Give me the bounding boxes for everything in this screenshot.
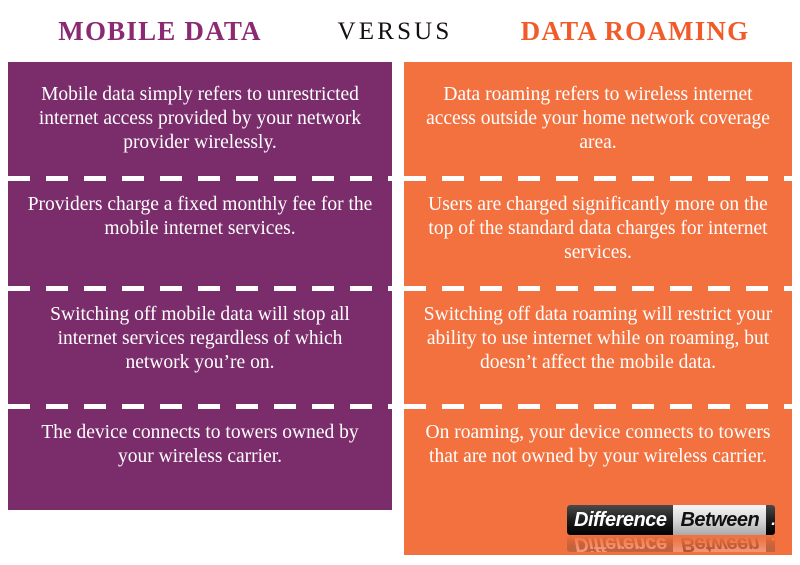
title-underline-left (8, 62, 392, 71)
cell-text: The device connects to towers owned by y… (26, 421, 374, 469)
table-row: Providers charge a fixed monthly fee for… (8, 181, 392, 291)
table-row: Switching off data roaming will restrict… (404, 291, 792, 409)
header: MOBILE DATA VERSUS DATA ROAMING (0, 0, 800, 62)
cell-text: Users are charged significantly more on … (422, 193, 774, 265)
cell-text: Data roaming refers to wireless internet… (422, 83, 774, 155)
table-row: The device connects to towers owned by y… (8, 409, 392, 510)
logo-part-net: .net (766, 535, 775, 552)
logo-part-net: .net (766, 505, 775, 535)
cell-text: Mobile data simply refers to unrestricte… (26, 83, 374, 155)
comparison-infographic: MOBILE DATA VERSUS DATA ROAMING Mobile d… (0, 0, 800, 565)
table-row: Users are charged significantly more on … (404, 181, 792, 291)
logo-part-between: Between (673, 535, 766, 552)
site-logo-reflection: Difference Between .net (567, 535, 775, 552)
table-row: Switching off mobile data will stop all … (8, 291, 392, 409)
logo-part-difference: Difference (567, 535, 673, 552)
title-underline-right (404, 62, 792, 71)
column-mobile-data: Mobile data simply refers to unrestricte… (8, 71, 392, 510)
site-logo: Difference Between .net (567, 505, 775, 535)
column-data-roaming: Data roaming refers to wireless internet… (404, 71, 792, 555)
cell-text: Switching off mobile data will stop all … (26, 303, 374, 375)
cell-text: Switching off data roaming will restrict… (422, 303, 774, 375)
table-row: Data roaming refers to wireless internet… (404, 71, 792, 181)
table-row: Mobile data simply refers to unrestricte… (8, 71, 392, 181)
page-title-versus: VERSUS (310, 19, 480, 44)
cell-text: On roaming, your device connects to towe… (422, 421, 774, 469)
page-title-right: DATA ROAMING (480, 18, 790, 45)
logo-part-difference: Difference (567, 505, 673, 535)
cell-text: Providers charge a fixed monthly fee for… (26, 193, 374, 241)
logo-part-between: Between (673, 505, 766, 535)
page-title-left: MOBILE DATA (10, 18, 310, 45)
